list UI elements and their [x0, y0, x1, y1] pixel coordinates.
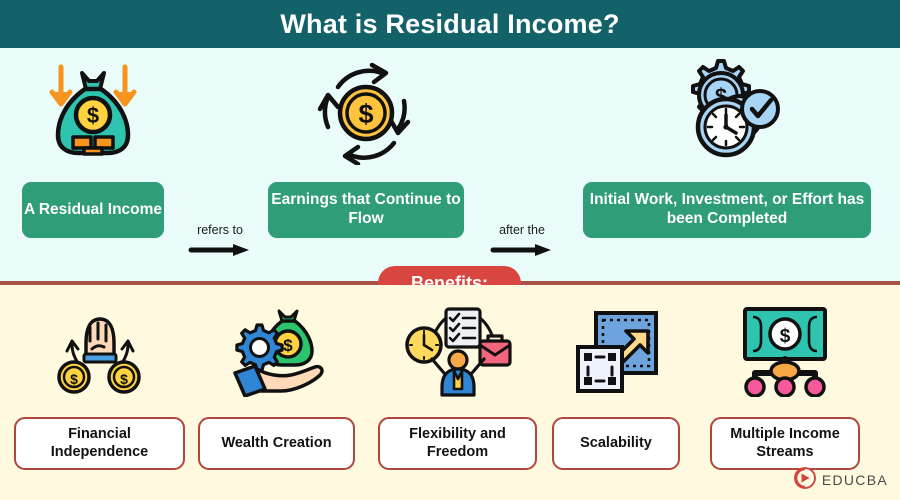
connector-1-label: refers to — [170, 224, 270, 237]
benefit-label-5: Multiple Income Streams — [710, 417, 860, 470]
svg-text:$: $ — [780, 326, 791, 347]
connector-1: refers to — [170, 224, 270, 257]
gear-clock-check-icon: $ — [583, 56, 871, 166]
fist-coins-icon: $ $ — [14, 301, 185, 397]
benefit-label-1: Financial Independence — [14, 417, 185, 470]
educba-logo-text: EDUCBA — [822, 472, 888, 488]
svg-text:$: $ — [120, 371, 128, 387]
definition-section: $ A Residual Income refers to — [0, 48, 900, 283]
benefits-section: $ $ Financial Independence $ — [0, 285, 900, 500]
flow-node-3-label: Initial Work, Investment, or Effort has … — [583, 182, 871, 238]
connector-2-label: after the — [472, 224, 572, 237]
educba-logo-icon — [794, 467, 816, 494]
money-bag-icon: $ — [22, 56, 164, 166]
svg-text:$: $ — [87, 103, 99, 128]
resize-arrow-icon — [552, 301, 680, 397]
flow-node-2-label: Earnings that Continue to Flow — [268, 182, 464, 238]
arrow-right-icon — [472, 243, 572, 257]
benefit-label-2: Wealth Creation — [198, 417, 355, 470]
money-cycle-icon: $ — [268, 56, 464, 166]
svg-text:$: $ — [358, 99, 373, 129]
banknote-branches-icon: $ — [710, 301, 860, 397]
svg-text:$: $ — [283, 336, 293, 355]
arrow-right-icon — [170, 243, 270, 257]
checklist-clock-briefcase-person-icon — [378, 301, 537, 397]
header-bar: What is Residual Income? — [0, 0, 900, 48]
flow-node-1-label: A Residual Income — [22, 182, 164, 238]
benefit-label-4: Scalability — [552, 417, 680, 470]
page-title: What is Residual Income? — [280, 9, 619, 40]
benefit-label-3: Flexibility and Freedom — [378, 417, 537, 470]
connector-2: after the — [472, 224, 572, 257]
definition-flow-row: $ A Residual Income refers to — [0, 48, 900, 283]
infographic-root: What is Residual Income? — [0, 0, 900, 500]
hand-money-bag-gear-icon: $ — [198, 301, 355, 397]
svg-text:$: $ — [70, 371, 78, 387]
educba-logo[interactable]: EDUCBA — [794, 468, 888, 492]
